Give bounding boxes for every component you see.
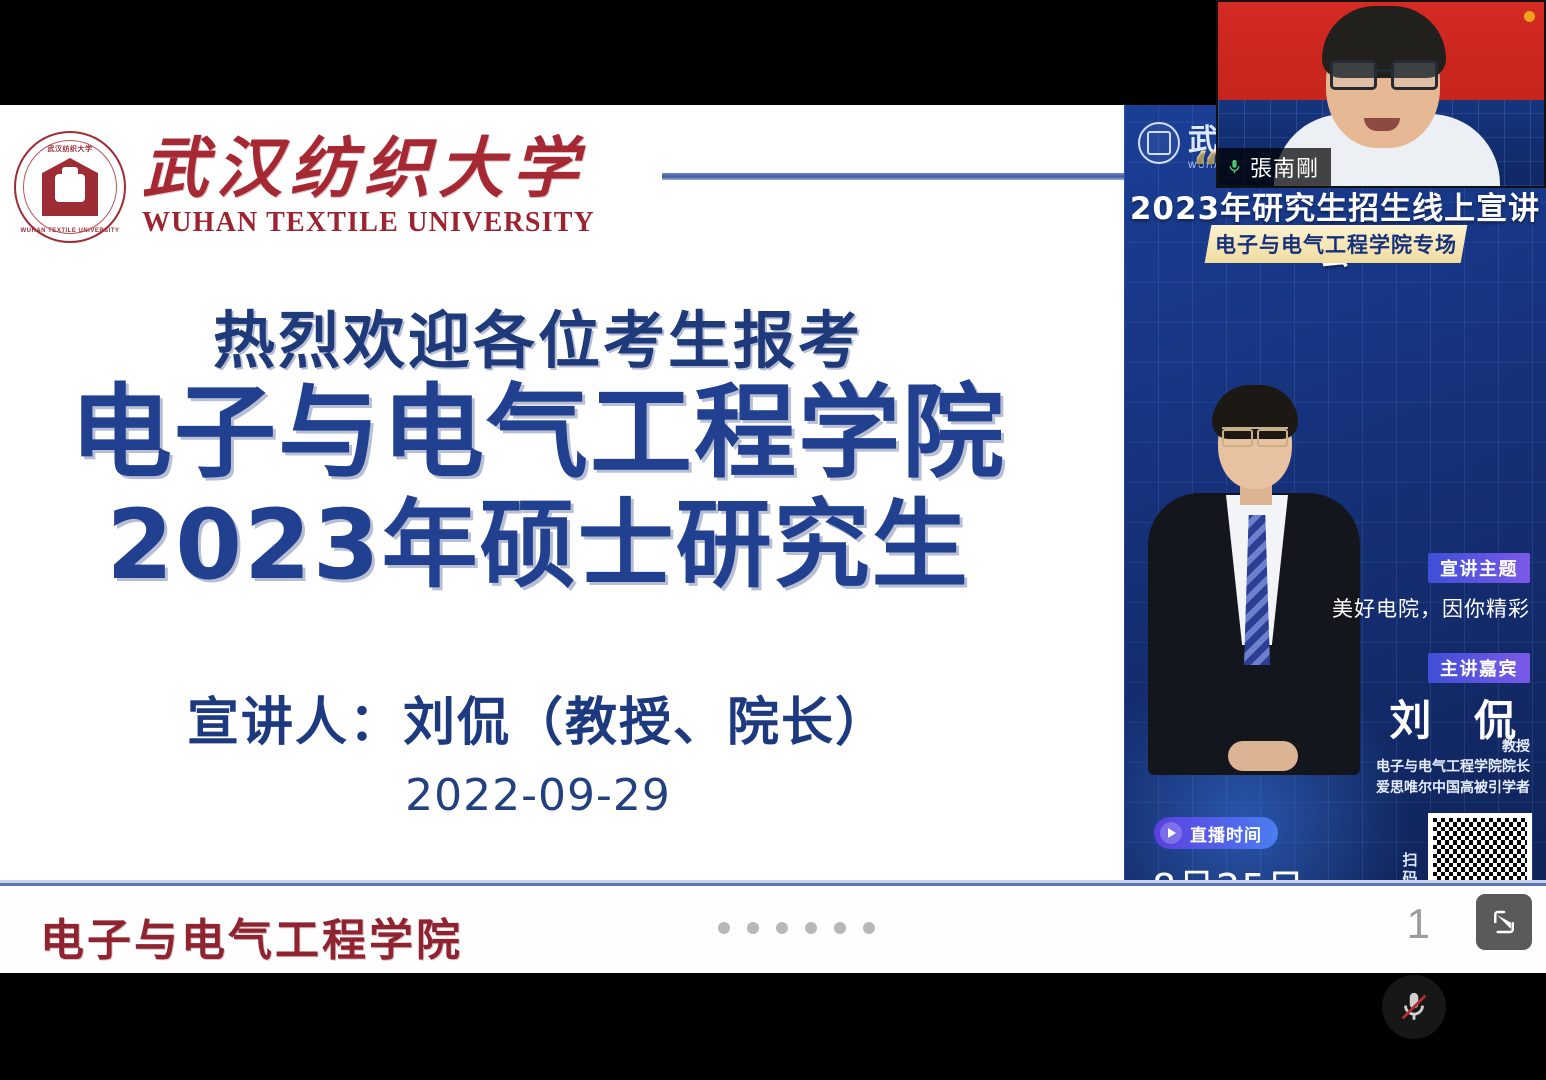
poster-topic-text: 美好电院，因你精彩 xyxy=(1270,593,1530,623)
slide-date-line: 2022-09-29 xyxy=(0,770,1076,821)
participant-name-bar: 張南剛 xyxy=(1218,148,1331,186)
participant-video-tile[interactable]: 張南剛 xyxy=(1216,0,1546,188)
poster-session-badge-label: 电子与电气工程学院专场 xyxy=(1215,229,1457,259)
university-name-block: 武汉纺织大学 WUHAN TEXTILE UNIVERSITY xyxy=(142,135,595,238)
slide-footer-title: 电子与电气工程学院 xyxy=(40,904,463,968)
glasses-icon xyxy=(1330,60,1438,90)
university-logo: 武汉纺织大学 WUHAN TEXTILE UNIVERSITY 武汉纺织大学 W… xyxy=(14,117,614,257)
poster-live-label: 直播时间 xyxy=(1190,821,1262,846)
pencil-annotate-icon xyxy=(1489,907,1519,937)
mute-toggle-button[interactable] xyxy=(1382,975,1446,1039)
slide-footer-dots xyxy=(718,922,875,934)
crest-bottom-text: WUHAN TEXTILE UNIVERSITY xyxy=(14,228,126,234)
header-accent-line xyxy=(662,173,1134,180)
poster-qr-caption: 扫码观看 xyxy=(1400,851,1420,883)
university-name-en: WUHAN TEXTILE UNIVERSITY xyxy=(142,207,595,239)
slide-year-line: 2023年硕士研究生 xyxy=(0,495,1076,596)
crest-top-text: 武汉纺织大学 xyxy=(14,144,126,154)
university-name-cn: 武汉纺织大学 xyxy=(142,135,595,204)
shared-slide: 武汉纺织大学 WUHAN TEXTILE UNIVERSITY 武汉纺织大学 W… xyxy=(0,105,1546,973)
poster-topic-label: 宣讲主题 xyxy=(1428,553,1530,583)
promo-poster: 武汉纺织大学 WUHAN TEXTILE UNIVERSITY “名师讲专业” … xyxy=(1124,105,1546,883)
play-icon xyxy=(1160,822,1182,844)
slide-footer: 电子与电气工程学院 1 xyxy=(0,883,1546,973)
poster-guest-label: 主讲嘉宾 xyxy=(1428,653,1530,683)
annotate-button[interactable] xyxy=(1476,894,1532,950)
meeting-screen-share-view: 武汉纺织大学 WUHAN TEXTILE UNIVERSITY 武汉纺织大学 W… xyxy=(0,0,1546,1080)
poster-session-badge: 电子与电气工程学院专场 xyxy=(1205,225,1468,263)
poster-guest-meta: 教授 电子与电气工程学院院长 爱思唯尔中国高被引学者 xyxy=(1250,737,1530,798)
slide-content-area: 武汉纺织大学 WUHAN TEXTILE UNIVERSITY 武汉纺织大学 W… xyxy=(0,105,1546,883)
microphone-icon xyxy=(1226,156,1243,178)
poster-live-time-pill: 直播时间 xyxy=(1154,817,1278,849)
university-crest-icon: 武汉纺织大学 WUHAN TEXTILE UNIVERSITY xyxy=(14,131,126,243)
microphone-muted-icon xyxy=(1397,990,1431,1024)
slide-speaker-line: 宣讲人：刘侃（教授、院长） xyxy=(0,680,1076,755)
poster-qr-code xyxy=(1428,813,1532,883)
slide-welcome-line: 热烈欢迎各位考生报考 xyxy=(0,290,1076,380)
poster-guest-honor: 爱思唯尔中国高被引学者 xyxy=(1250,778,1530,798)
participant-name: 張南剛 xyxy=(1250,151,1319,183)
poster-guest-title: 教授 xyxy=(1250,737,1530,757)
recording-indicator-dot xyxy=(1524,11,1535,22)
slide-college-line: 电子与电气工程学院 xyxy=(0,380,1076,487)
poster-guest-role: 电子与电气工程学院院长 xyxy=(1250,757,1530,777)
slide-page-number: 1 xyxy=(1407,900,1430,948)
